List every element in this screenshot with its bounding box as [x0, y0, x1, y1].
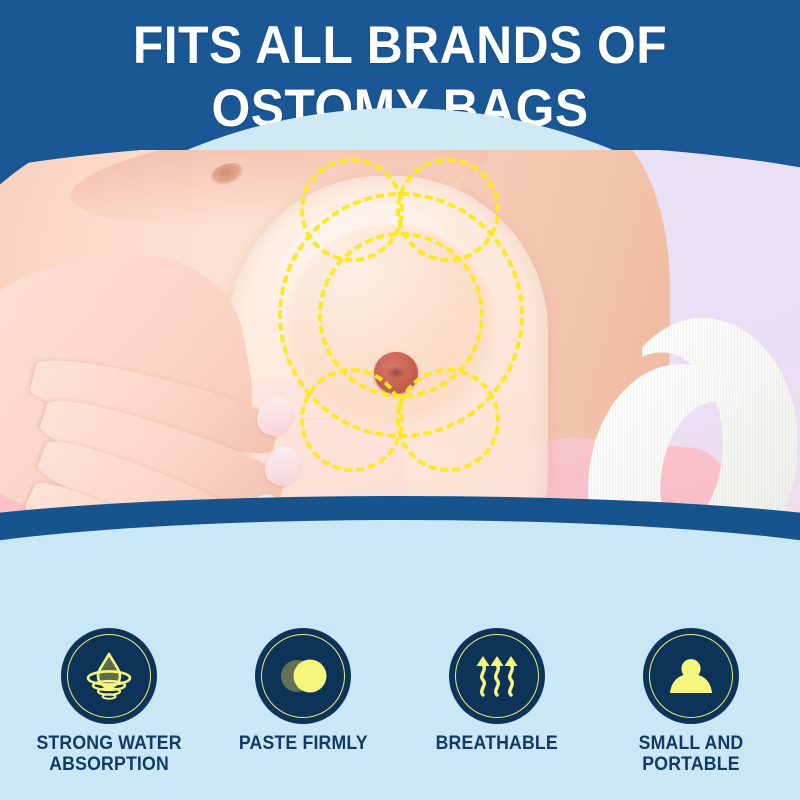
feature-badge [255, 628, 351, 724]
feature-label: SMALL AND PORTABLE [605, 733, 778, 775]
feature-item-portable[interactable]: SMALL AND PORTABLE [598, 628, 784, 800]
guide-lobe-top-left [300, 158, 404, 262]
feature-label: STRONG WATER ABSORPTION [36, 733, 181, 775]
feature-badge [61, 628, 157, 724]
guide-lobe-top-right [396, 158, 500, 262]
portable-pouch-icon [660, 645, 722, 707]
water-drop-absorption-icon [78, 645, 140, 707]
guide-lobe-bottom-right [396, 368, 500, 472]
feature-badge [449, 628, 545, 724]
feature-list: STRONG WATER ABSORPTION PASTE FIRMLY [0, 628, 800, 800]
feature-item-adhesion[interactable]: PASTE FIRMLY [210, 628, 396, 800]
product-infographic: FITS ALL BRANDS OF OSTOMY BAGS [0, 0, 800, 800]
feature-badge [643, 628, 739, 724]
feature-label: BREATHABLE [436, 733, 558, 754]
feature-item-absorption[interactable]: STRONG WATER ABSORPTION [16, 628, 202, 800]
feature-label: PASTE FIRMLY [239, 733, 368, 754]
overlapping-circles-adhesion-icon [272, 645, 334, 707]
feature-item-breathable[interactable]: BREATHABLE [404, 628, 590, 800]
breathable-arrows-icon [466, 645, 528, 707]
